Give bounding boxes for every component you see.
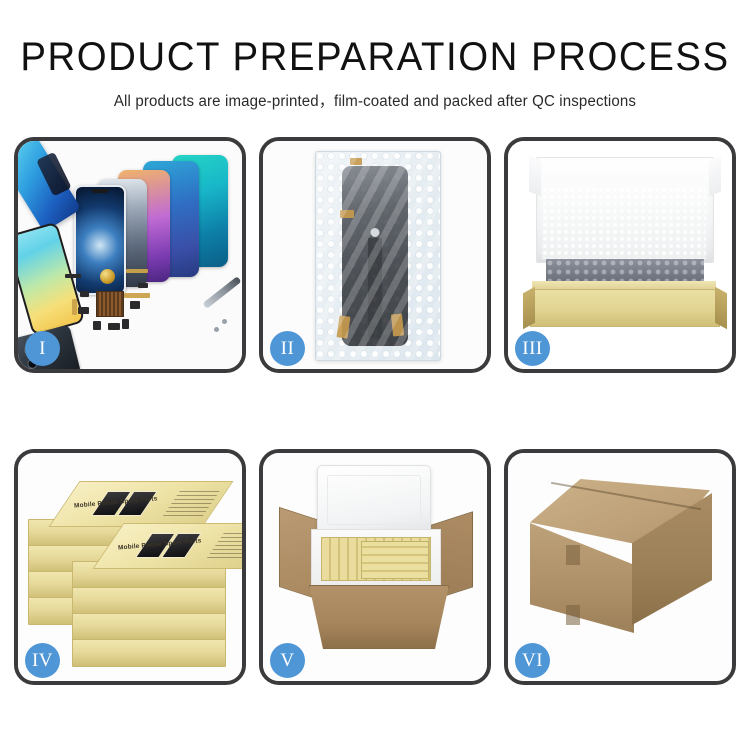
step-badge-1: I (25, 331, 60, 366)
phone-notch-icon (91, 189, 109, 193)
carton-tape-icon (566, 545, 580, 565)
carton-body-icon (309, 585, 449, 649)
screw-icon (222, 319, 227, 324)
tape-icon (391, 313, 404, 336)
step-panel-3: III (504, 137, 736, 373)
box-spec-text-icon (163, 488, 222, 516)
step-badge-4: IV (25, 643, 60, 678)
component-chip-icon (80, 291, 89, 297)
box-spec-text-icon (207, 530, 242, 558)
page-subtitle: All products are image-printed，film-coat… (11, 89, 739, 111)
flex-cable-icon (124, 293, 150, 298)
vibration-motor-icon (100, 269, 115, 284)
step-badge-5: V (270, 643, 305, 678)
bubble-wrap-bag-icon (315, 151, 441, 361)
component-chip-icon (122, 319, 129, 329)
process-steps-grid: I II III (14, 137, 736, 685)
page-header: PRODUCT PREPARATION PROCESS All products… (0, 0, 750, 111)
component-chip-icon (93, 321, 101, 330)
stacked-box (72, 639, 226, 667)
carton-tape-icon (566, 605, 580, 625)
screw-icon (214, 327, 219, 332)
stacked-box (72, 613, 226, 641)
step-badge-6: VI (515, 643, 550, 678)
part-strip-icon (368, 238, 382, 338)
phone-blue-tilted-icon (18, 141, 81, 232)
packed-boxes-icon (361, 541, 429, 579)
flex-cable-icon (126, 269, 148, 273)
foam-sheet-icon (542, 187, 706, 259)
component-chip-icon (65, 274, 81, 278)
box-stack-icon: Mobile Phone Spare Parts Mobile Phone Sp… (26, 471, 234, 663)
step-badge-2: II (270, 331, 305, 366)
yellow-box-front-icon (530, 289, 720, 327)
component-chip-icon (130, 301, 140, 309)
step-panel-1: I (14, 137, 246, 373)
step-panel-6: VI (504, 449, 736, 685)
tape-icon (340, 210, 354, 218)
page-title: PRODUCT PREPARATION PROCESS (15, 36, 735, 78)
stacked-box (72, 587, 226, 615)
component-chip-icon (78, 307, 89, 314)
flex-cable-icon (72, 299, 77, 315)
logic-board-icon (96, 291, 124, 317)
stacked-box-top: Mobile Phone Spare Parts (48, 481, 233, 527)
component-chip-icon (108, 323, 120, 330)
tape-icon (350, 158, 362, 165)
step-badge-3: III (515, 331, 550, 366)
step-panel-5: V (259, 449, 491, 685)
step-panel-2: II (259, 137, 491, 373)
screwdriver-icon (203, 276, 242, 309)
step-panel-4: Mobile Phone Spare Parts Mobile Phone Sp… (14, 449, 246, 685)
component-chip-icon (138, 283, 148, 288)
foam-box-lid-icon (317, 465, 431, 535)
